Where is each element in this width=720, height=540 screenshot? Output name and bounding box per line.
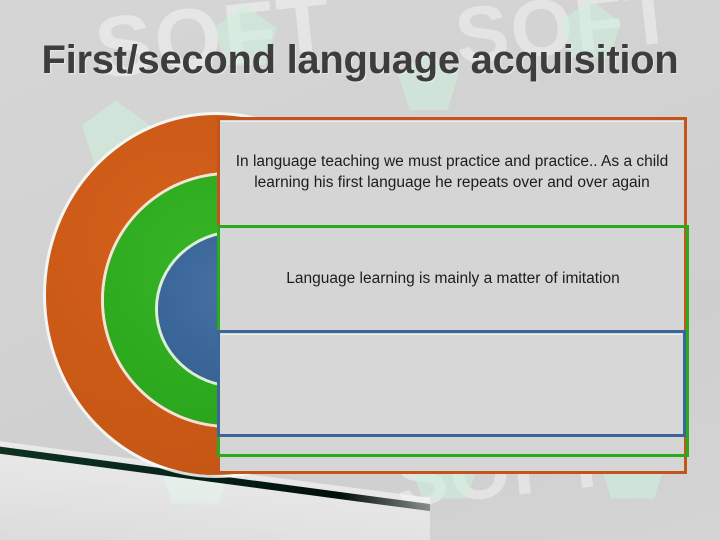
page-title: First/second language acquisition xyxy=(0,38,720,83)
slide-canvas: SOFT SOFT SOFT ⬟ ⬟ ⬟ ⬟ ⬟ ⬟ ⬟ ⬟ First/sec… xyxy=(0,0,720,540)
callout-box-blue[interactable] xyxy=(217,330,686,437)
